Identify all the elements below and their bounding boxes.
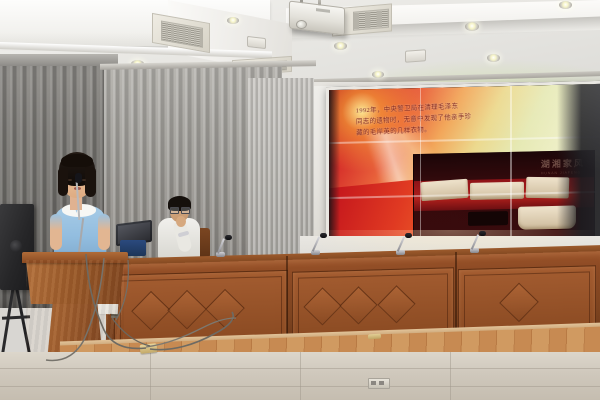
seated-man-hand: [176, 216, 186, 227]
video-wall-display: 1992年，中央警卫局在清理毛泽东 同志的遗物时，无意中发现了他亲手珍 藏的毛岸…: [329, 84, 600, 248]
podium-desk: [26, 260, 124, 304]
video-wall-glare: [329, 84, 600, 248]
presenter-eye: [68, 179, 72, 181]
presenter-hair-side: [85, 167, 96, 197]
tile-grout-line: [150, 352, 151, 400]
recessed-downlight: [559, 1, 572, 9]
eyeglasses-lens: [170, 207, 179, 214]
projector-lens-icon: [296, 20, 307, 29]
recessed-downlight: [487, 54, 500, 62]
tile-grout-line: [450, 352, 451, 400]
outlet-socket: [379, 381, 384, 385]
tile-floor: [0, 352, 600, 400]
cable-cover-tape: [140, 343, 158, 354]
eyeglasses-lens: [181, 207, 190, 214]
presenter-arm-right: [98, 214, 110, 250]
microphone-capsule: [225, 235, 232, 240]
recessed-downlight: [227, 17, 239, 24]
presenter-hair-side: [58, 168, 68, 196]
led-video-wall[interactable]: 1992年，中央警卫局在清理毛泽东 同志的遗物时，无意中发现了他亲手珍 藏的毛岸…: [326, 81, 600, 251]
speaker-tripod-brace: [2, 315, 30, 319]
recessed-downlight: [372, 71, 384, 78]
podium-microphone[interactable]: [75, 173, 82, 183]
cable-cover-tape: [368, 334, 381, 340]
microphone-capsule: [405, 233, 412, 238]
ceiling-speaker: [405, 49, 426, 62]
microphone-capsule: [320, 233, 327, 238]
presenter-arm-left: [50, 214, 62, 250]
tile-grout-line: [300, 352, 301, 400]
ceiling-speaker: [247, 36, 266, 49]
recessed-downlight: [465, 22, 479, 31]
outlet-socket: [371, 381, 376, 385]
wooden-podium: [22, 252, 128, 263]
recessed-downlight: [334, 42, 347, 50]
conference-hall-photo: 1992年，中央警卫局在清理毛泽东 同志的遗物时，无意中发现了他亲手珍 藏的毛岸…: [0, 0, 600, 400]
presenter-eye: [82, 179, 86, 181]
speaker-driver-icon: [10, 240, 22, 252]
microphone-capsule: [479, 231, 486, 236]
presenter-hair-fringe: [61, 154, 93, 167]
